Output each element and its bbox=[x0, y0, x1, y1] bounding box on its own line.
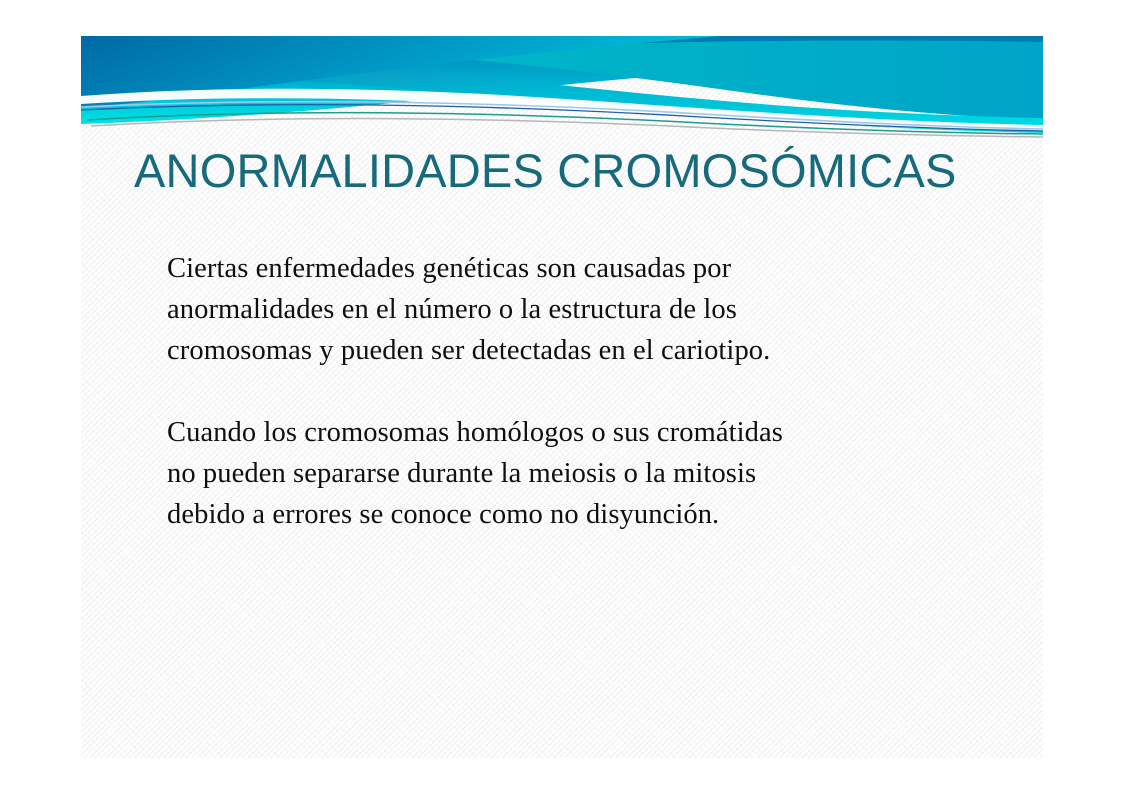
body-line: Ciertas enfermedades genéticas son causa… bbox=[167, 248, 997, 289]
body-line: Cuando los cromosomas homólogos o sus cr… bbox=[167, 412, 997, 453]
body-line: debido a errores se conoce como no disyu… bbox=[167, 494, 997, 535]
body-line: no pueden separarse durante la meiosis o… bbox=[167, 453, 997, 494]
body-line: cromosomas y pueden ser detectadas en el… bbox=[167, 330, 997, 371]
body-paragraph-2: Cuando los cromosomas homólogos o sus cr… bbox=[167, 412, 997, 535]
slide: ANORMALIDADES CROMOSÓMICAS Ciertas enfer… bbox=[81, 36, 1043, 758]
body-paragraph-1: Ciertas enfermedades genéticas son causa… bbox=[167, 248, 997, 371]
slide-title: ANORMALIDADES CROMOSÓMICAS bbox=[134, 144, 1014, 198]
page-canvas: ANORMALIDADES CROMOSÓMICAS Ciertas enfer… bbox=[0, 0, 1122, 793]
wave-banner bbox=[81, 36, 1043, 140]
slide-body: Ciertas enfermedades genéticas son causa… bbox=[167, 248, 997, 535]
body-line: anormalidades en el número o la estructu… bbox=[167, 289, 997, 330]
wave-banner-graphic bbox=[81, 36, 1043, 140]
